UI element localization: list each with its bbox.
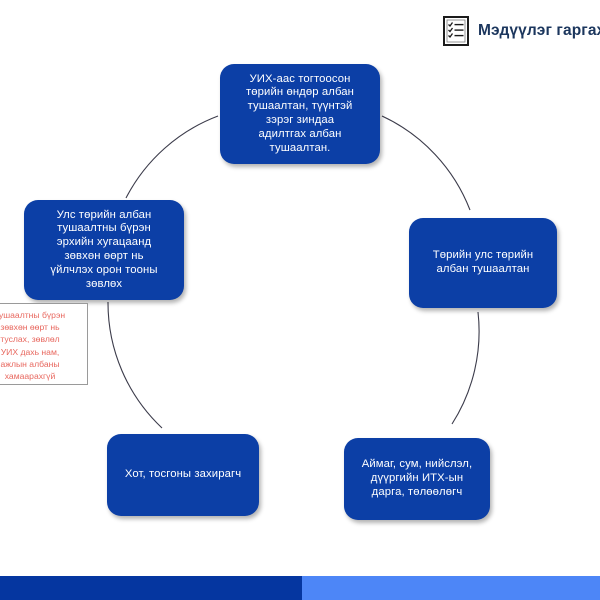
cycle-node-right[interactable]: Төрийн улс төрийн албан тушаалтан [409,218,557,308]
arc-left-to-top [126,116,218,198]
cycle-node-bottom-right[interactable]: Аймаг, сум, нийслэл, дүүргийн ИТХ-ын дар… [344,438,490,520]
arc-bottomleft-to-left [108,302,162,428]
cycle-node-top-label: УИХ-аас тогтоосон төрийн өндөр албан туш… [246,73,354,156]
cycle-node-bottom-left-label: Хот, тосгоны захирагч [125,468,241,482]
cycle-node-bottom-right-label: Аймаг, сум, нийслэл, дүүргийн ИТХ-ын дар… [362,458,472,499]
cycle-node-bottom-left[interactable]: Хот, тосгоны захирагч [107,434,259,516]
arc-right-to-bottomright [452,312,479,424]
footer-bar-right [302,576,600,600]
header: Мэдүүлэг гаргах а [443,16,600,46]
header-title: Мэдүүлэг гаргах а [478,22,600,40]
cycle-node-left[interactable]: Улс төрийн албан тушаалтны бүрэн эрхийн … [24,200,184,300]
checklist-clipboard-icon [443,16,469,46]
cycle-node-top[interactable]: УИХ-аас тогтоосон төрийн өндөр албан туш… [220,64,380,164]
annotation-callout: тушаалтны бүрэн зөвхөн өөрт нь туслах, з… [0,303,88,385]
cycle-node-right-label: Төрийн улс төрийн албан тушаалтан [433,249,534,277]
slide-canvas: Мэдүүлэг гаргах а УИХ-аас тогтоосон төри… [0,0,600,600]
footer-bar-left [0,576,302,600]
cycle-node-left-label: Улс төрийн албан тушаалтны бүрэн эрхийн … [50,209,157,292]
arc-top-to-right [382,116,470,210]
